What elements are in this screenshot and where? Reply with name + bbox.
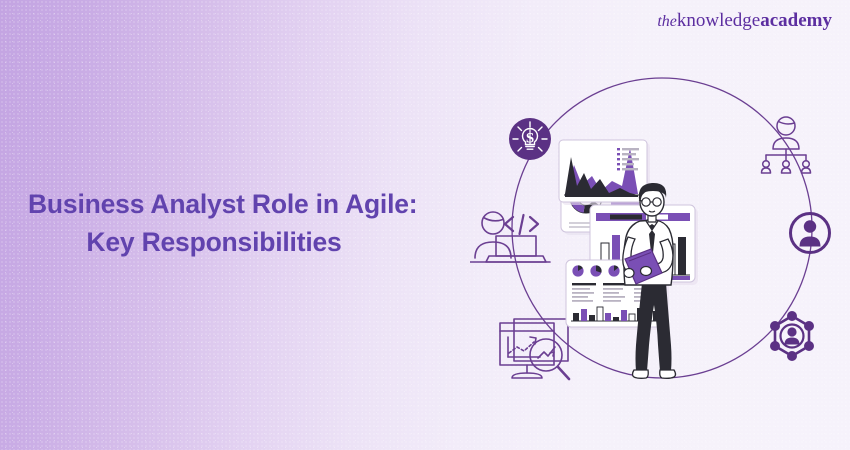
money-idea-icon[interactable]: S bbox=[509, 118, 551, 160]
logo-word-knowledge: knowledge bbox=[677, 10, 760, 31]
user-network-icon[interactable] bbox=[770, 311, 814, 361]
brand-logo[interactable]: theknowledgeacademy bbox=[657, 11, 832, 30]
org-chart-icon[interactable] bbox=[762, 117, 811, 173]
logo-word-academy: academy bbox=[760, 10, 832, 31]
data-research-icon[interactable] bbox=[500, 319, 569, 379]
page-title-line-2: Key Responsibilities bbox=[28, 224, 428, 262]
banner: theknowledgeacademy Business Analyst Rol… bbox=[0, 0, 850, 450]
user-avatar-icon[interactable] bbox=[791, 214, 830, 253]
area-chart-panel bbox=[559, 140, 650, 205]
page-title-line-1: Business Analyst Role in Agile: bbox=[28, 186, 428, 224]
logo-word-the: the bbox=[657, 13, 677, 30]
developer-code-icon[interactable] bbox=[470, 212, 550, 262]
hero-illustration: S bbox=[470, 45, 850, 445]
page-title: Business Analyst Role in Agile: Key Resp… bbox=[28, 186, 428, 261]
